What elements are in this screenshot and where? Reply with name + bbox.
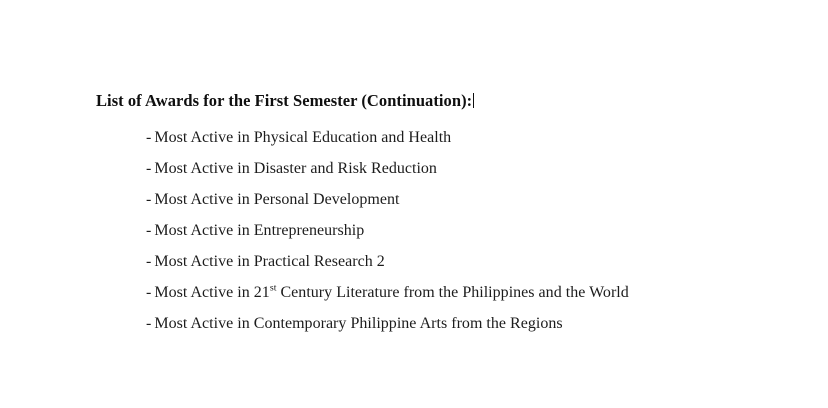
document-body[interactable]: List of Awards for the First Semester (C…	[96, 90, 756, 339]
list-item-bullet: -	[146, 191, 151, 208]
page-title: List of Awards for the First Semester (C…	[96, 90, 756, 112]
list-item: -Most Active in 21st Century Literature …	[146, 277, 756, 308]
list-item-bullet: -	[146, 253, 151, 270]
awards-list: -Most Active in Physical Education and H…	[96, 122, 756, 339]
list-item: -Most Active in Practical Research 2	[146, 246, 756, 277]
list-item-bullet: -	[146, 160, 151, 177]
document-page: List of Awards for the First Semester (C…	[0, 0, 828, 408]
text-caret	[473, 93, 474, 108]
list-item-label: Most Active in Entrepreneurship	[154, 222, 364, 239]
list-item-bullet: -	[146, 129, 151, 146]
list-item: -Most Active in Physical Education and H…	[146, 122, 756, 153]
list-item-label: Most Active in Practical Research 2	[154, 253, 384, 270]
list-item-label: Most Active in Physical Education and He…	[154, 129, 451, 146]
list-item: -Most Active in Entrepreneurship	[146, 215, 756, 246]
list-item: -Most Active in Contemporary Philippine …	[146, 308, 756, 339]
list-item-label-after: Century Literature from the Philippines …	[276, 284, 628, 301]
list-item-bullet: -	[146, 284, 151, 301]
page-title-text: List of Awards for the First Semester (C…	[96, 91, 472, 110]
list-item-label: Most Active in Disaster and Risk Reducti…	[154, 160, 437, 177]
list-item-label: Most Active in Contemporary Philippine A…	[154, 315, 562, 332]
list-item: -Most Active in Disaster and Risk Reduct…	[146, 153, 756, 184]
list-item-label: Most Active in Personal Development	[154, 191, 399, 208]
list-item-bullet: -	[146, 222, 151, 239]
list-item-bullet: -	[146, 315, 151, 332]
list-item-label-before: Most Active in 21	[154, 284, 269, 301]
list-item: -Most Active in Personal Development	[146, 184, 756, 215]
